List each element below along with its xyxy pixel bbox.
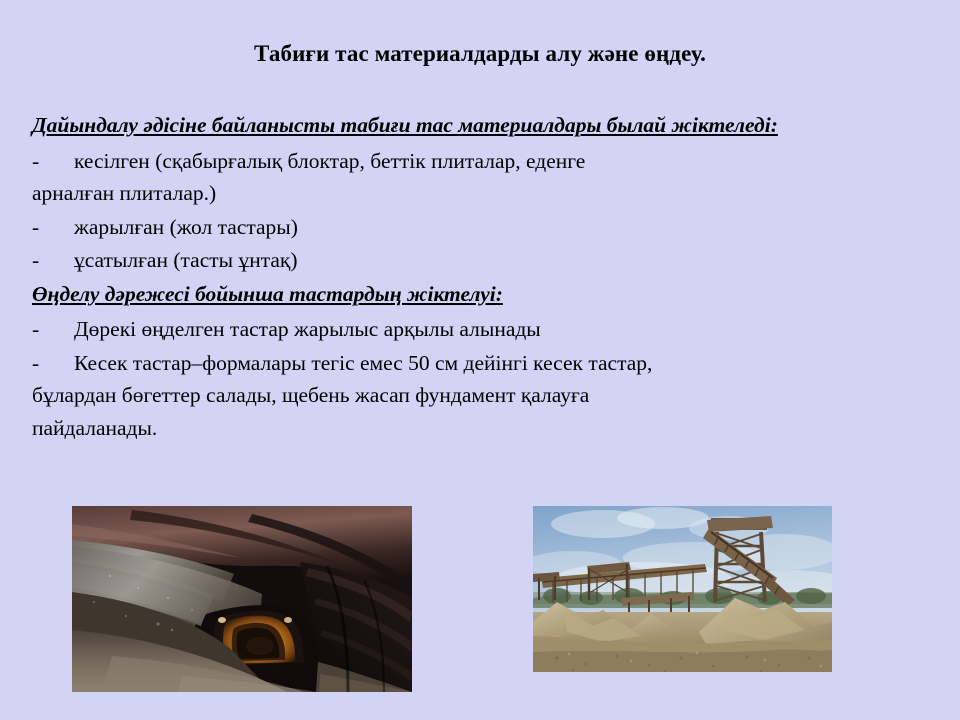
- list-item-continuation: арналған плиталар.): [32, 178, 912, 209]
- list-item-label: Кесек тастар–формалары тегіс емес 50 см …: [74, 351, 652, 375]
- slide-title: Табиғи тас материалдарды алу және өңдеу.: [0, 40, 960, 68]
- list-item-label: жарылған (жол тастары): [74, 215, 298, 239]
- quarry-illustration: [533, 506, 832, 672]
- mine-tunnel-photo: [72, 506, 412, 692]
- bullet-dash: -: [32, 348, 74, 379]
- section-heading-processing: Өңделу дәрежесі бойынша тастардың жіктел…: [32, 279, 912, 310]
- bullet-dash: -: [32, 314, 74, 345]
- list-item-label: кесілген (сқабырғалық блоктар, беттік пл…: [74, 149, 585, 173]
- mine-tunnel-illustration: [72, 506, 412, 692]
- bullet-dash: -: [32, 212, 74, 243]
- list-item: -ұсатылған (тасты ұнтақ): [32, 245, 912, 276]
- quarry-conveyor-photo: [533, 506, 832, 672]
- slide-canvas: Табиғи тас материалдарды алу және өңдеу.…: [0, 0, 960, 720]
- list-item-label: Дөрекі өңделген тастар жарылыс арқылы ал…: [74, 317, 541, 341]
- list-item-continuation: пайдаланады.: [32, 413, 912, 444]
- section-heading-preparation: Дайындалу әдісіне байланысты табиғи тас …: [32, 110, 912, 141]
- list-item-continuation: бұлардан бөгеттер салады, щебень жасап ф…: [32, 380, 912, 411]
- list-item-label: ұсатылған (тасты ұнтақ): [74, 248, 298, 272]
- list-item: -кесілген (сқабырғалық блоктар, беттік п…: [32, 146, 912, 177]
- list-item: -Дөрекі өңделген тастар жарылыс арқылы а…: [32, 314, 912, 345]
- list-item: -Кесек тастар–формалары тегіс емес 50 см…: [32, 348, 912, 379]
- bullet-dash: -: [32, 146, 74, 177]
- slide-body: Дайындалу әдісіне байланысты табиғи тас …: [32, 110, 912, 446]
- list-item: -жарылған (жол тастары): [32, 212, 912, 243]
- bullet-dash: -: [32, 245, 74, 276]
